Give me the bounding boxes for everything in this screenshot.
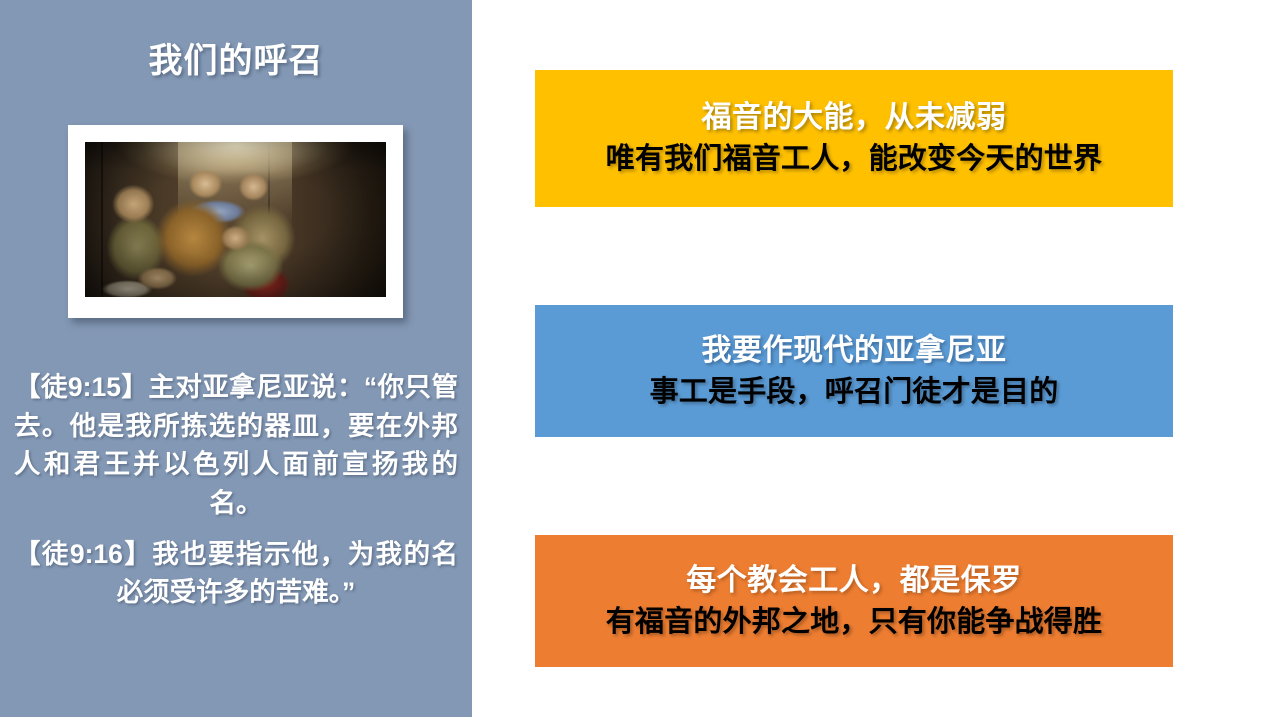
message-box-every-worker: 每个教会工人，都是保罗 有福音的外邦之地，只有你能争战得胜 <box>535 535 1173 667</box>
left-panel: 我们的呼召 【徒9:15】主对亚拿尼亚说：“你只管去。他是我所拣选的器皿，要在外… <box>0 0 472 717</box>
painting-vignette-layer <box>85 142 386 297</box>
ananias-restoring-paul-sight-painting <box>85 142 386 297</box>
message-headline: 我要作现代的亚拿尼亚 <box>702 333 1007 369</box>
message-headline: 每个教会工人，都是保罗 <box>686 563 1022 599</box>
scripture-verse: 【徒9:15】主对亚拿尼亚说：“你只管去。他是我所拣选的器皿，要在外邦人和君王并… <box>14 368 458 523</box>
presentation-slide: 我们的呼召 【徒9:15】主对亚拿尼亚说：“你只管去。他是我所拣选的器皿，要在外… <box>0 0 1280 720</box>
message-headline: 福音的大能，从未减弱 <box>702 100 1007 136</box>
message-subline: 唯有我们福音工人，能改变今天的世界 <box>606 142 1102 177</box>
painting-frame <box>68 125 403 318</box>
scripture-verse: 【徒9:16】我也要指示他，为我的名必须受许多的苦难。” <box>14 535 458 612</box>
message-subline: 事工是手段，呼召门徒才是目的 <box>650 375 1059 410</box>
page-title: 我们的呼召 <box>0 42 472 81</box>
message-box-gospel-power: 福音的大能，从未减弱 唯有我们福音工人，能改变今天的世界 <box>535 70 1173 207</box>
scripture-text: 【徒9:15】主对亚拿尼亚说：“你只管去。他是我所拣选的器皿，要在外邦人和君王并… <box>14 368 458 612</box>
message-box-modern-ananias: 我要作现代的亚拿尼亚 事工是手段，呼召门徒才是目的 <box>535 305 1173 437</box>
message-subline: 有福音的外邦之地，只有你能争战得胜 <box>606 605 1102 640</box>
